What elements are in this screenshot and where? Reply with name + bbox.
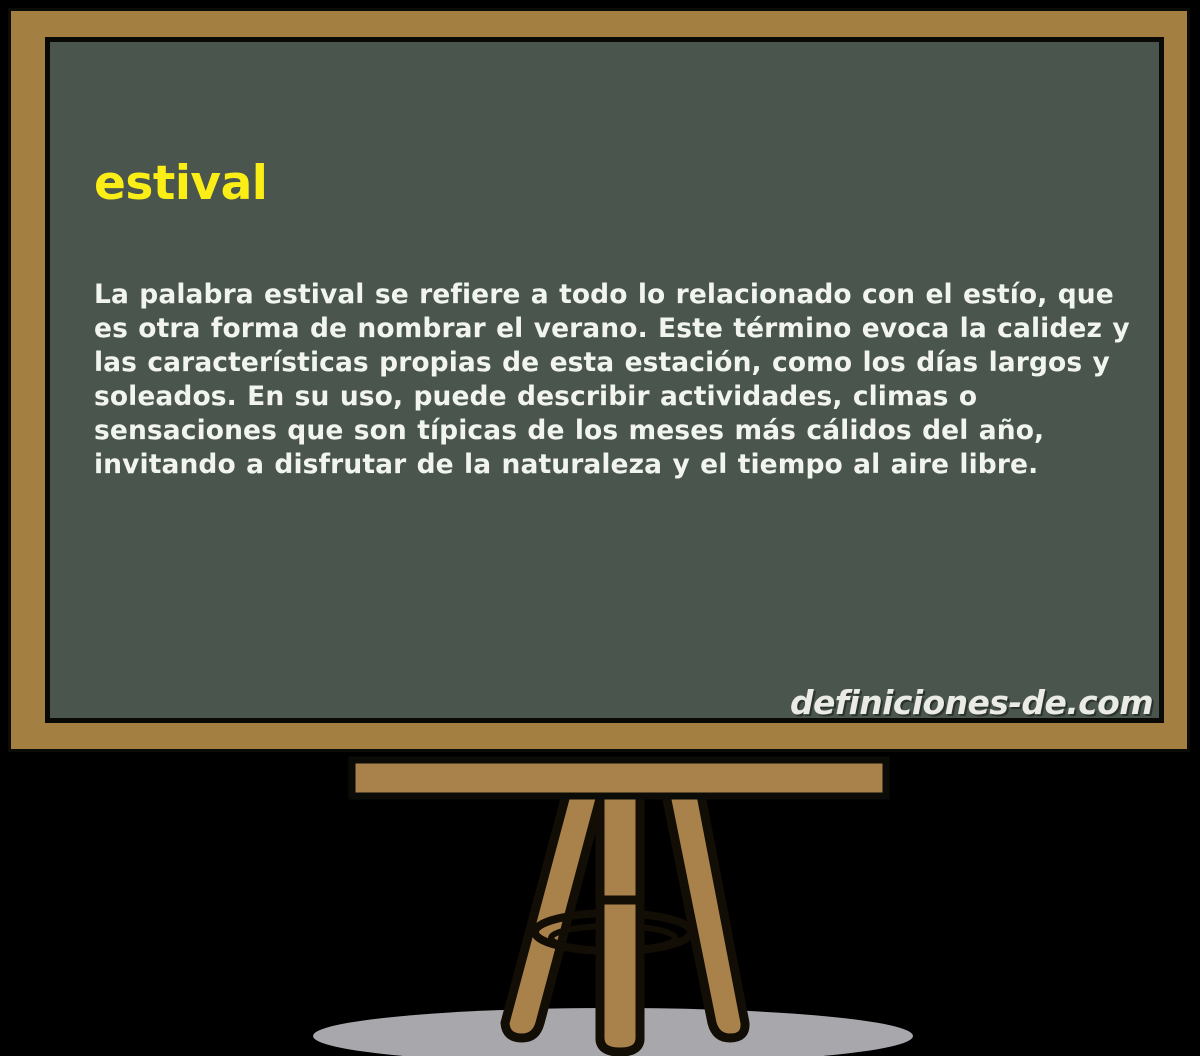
left-leg bbox=[505, 795, 601, 1038]
right-leg bbox=[666, 795, 745, 1038]
center-leg bbox=[600, 795, 640, 1052]
blackboard-content: estival La palabra estival se refiere a … bbox=[50, 42, 1159, 718]
leg-brace-ring-icon bbox=[535, 913, 691, 951]
floor-shadow-icon bbox=[313, 1008, 913, 1056]
definition-paragraph: La palabra estival se refiere a todo lo … bbox=[94, 278, 1158, 482]
blackboard-surface: estival La palabra estival se refiere a … bbox=[45, 37, 1164, 723]
definition-card-canvas: estival La palabra estival se refiere a … bbox=[0, 0, 1200, 1056]
leg-brace-ring-inner-icon bbox=[551, 926, 675, 950]
blackboard-frame: estival La palabra estival se refiere a … bbox=[8, 8, 1190, 752]
center-leg-front bbox=[600, 900, 640, 1052]
site-watermark: definiciones-de.com bbox=[790, 683, 1153, 722]
page-title: estival bbox=[94, 160, 1159, 207]
chalk-tray bbox=[352, 760, 886, 796]
